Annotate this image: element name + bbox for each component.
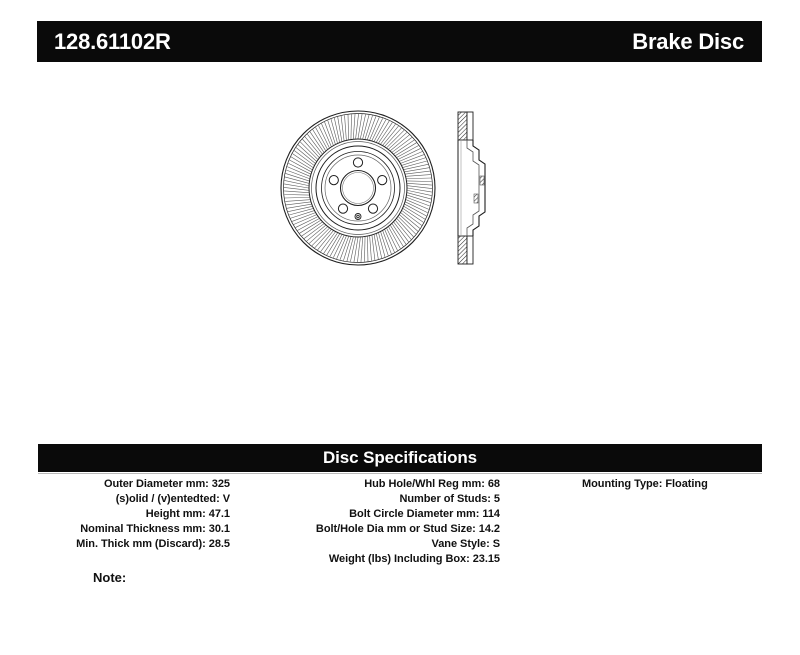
spec-value: 23.15 xyxy=(473,553,500,565)
part-number: 128.61102R xyxy=(54,29,171,55)
spec-section-header: Disc Specifications xyxy=(38,444,762,472)
spec-value: 5 xyxy=(494,493,500,505)
spec-row-bolt-circle-diameter: Bolt Circle Diameter mm: 114 xyxy=(238,507,500,522)
spec-label: Hub Hole/Whl Reg mm: xyxy=(364,478,488,490)
spec-value: 28.5 xyxy=(209,538,230,550)
spec-label: Nominal Thickness mm: xyxy=(80,523,209,535)
spec-label: Bolt Circle Diameter mm: xyxy=(349,508,482,520)
spec-value: 114 xyxy=(482,508,500,520)
spec-row-weight: Weight (lbs) Including Box: 23.15 xyxy=(238,552,500,567)
spec-value: S xyxy=(493,538,500,550)
rotor-front-view xyxy=(281,111,435,265)
spec-row-bolt-hole-dia: Bolt/Hole Dia mm or Stud Size: 14.2 xyxy=(238,522,500,537)
spec-row-height: Height mm: 47.1 xyxy=(38,507,230,522)
spec-row-nominal-thickness: Nominal Thickness mm: 30.1 xyxy=(38,522,230,537)
spec-value: 47.1 xyxy=(209,508,230,520)
spec-row-outer-diameter: Outer Diameter mm: 325 xyxy=(38,477,230,492)
page-header-bar: 128.61102R Brake Disc xyxy=(37,21,762,62)
spec-value: 68 xyxy=(488,478,500,490)
spec-row-number-of-studs: Number of Studs: 5 xyxy=(238,492,500,507)
rotor-side-section-view xyxy=(458,112,485,264)
spec-sheet-page: 128.61102R Brake Disc xyxy=(0,0,800,655)
spec-label: Height mm: xyxy=(146,508,209,520)
spec-label: Number of Studs: xyxy=(399,493,493,505)
spec-label: Weight (lbs) Including Box: xyxy=(329,553,473,565)
note-row: Note: xyxy=(93,570,753,588)
spec-row-mounting-type: Mounting Type: Floating xyxy=(546,477,800,492)
spec-row-hub-hole: Hub Hole/Whl Reg mm: 68 xyxy=(238,477,500,492)
spec-row-vane-style: Vane Style: S xyxy=(238,537,500,552)
spec-label: Mounting Type: xyxy=(582,478,665,490)
product-type-title: Brake Disc xyxy=(632,29,744,55)
cooling-vanes xyxy=(284,114,432,262)
locating-pin-hole xyxy=(355,214,361,220)
spec-row-solid-vented: (s)olid / (v)entedted: V xyxy=(38,492,230,507)
spec-column-middle: Hub Hole/Whl Reg mm: 68 Number of Studs:… xyxy=(238,477,500,567)
diagram-area xyxy=(37,70,762,435)
spec-value: V xyxy=(223,493,230,505)
spec-value: 14.2 xyxy=(479,523,500,535)
spec-row-min-thickness: Min. Thick mm (Discard): 28.5 xyxy=(38,537,230,552)
spec-value: 30.1 xyxy=(209,523,230,535)
spec-label: (s)olid / (v)entedted: xyxy=(116,493,223,505)
spec-label: Outer Diameter mm: xyxy=(104,478,212,490)
brake-rotor-technical-drawing xyxy=(280,98,520,278)
note-label: Note: xyxy=(93,570,126,585)
spec-value: Floating xyxy=(665,478,707,490)
spec-label: Min. Thick mm (Discard): xyxy=(76,538,209,550)
spec-column-right: Mounting Type: Floating xyxy=(546,477,800,492)
stud-holes xyxy=(329,158,387,213)
spec-value: 325 xyxy=(212,478,230,490)
spec-label: Bolt/Hole Dia mm or Stud Size: xyxy=(316,523,479,535)
spec-section-title: Disc Specifications xyxy=(38,448,762,468)
spec-divider-rule xyxy=(38,473,762,474)
spec-column-left: Outer Diameter mm: 325 (s)olid / (v)ente… xyxy=(38,477,230,552)
spec-label: Vane Style: xyxy=(432,538,493,550)
